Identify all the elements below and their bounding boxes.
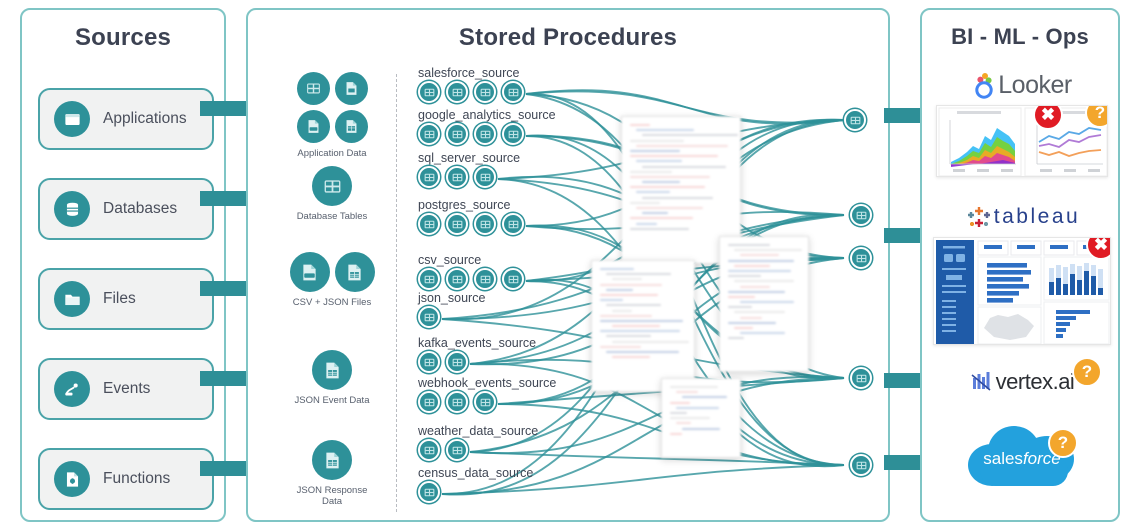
arrow-events [200, 371, 248, 386]
lineage-output-node[interactable] [850, 204, 872, 226]
lineage-output-node[interactable] [850, 367, 872, 389]
vertex-ai-mark-icon [970, 369, 996, 395]
bi-target-looker[interactable]: Looker [922, 68, 1122, 177]
lineage-node[interactable] [418, 123, 440, 145]
lineage-output-node[interactable] [844, 109, 866, 131]
lineage-output-node[interactable] [850, 454, 872, 476]
lineage-node[interactable] [418, 481, 440, 503]
bi-target-vertex-ai[interactable]: vertex.ai ? [922, 365, 1122, 399]
status-badge-warning: ? [1072, 357, 1102, 387]
source-item-applications[interactable]: Applications [38, 88, 214, 150]
lineage-node[interactable] [446, 351, 468, 373]
lineage-node[interactable] [446, 391, 468, 413]
lineage-group: google_analytics_source [418, 108, 556, 145]
lineage-node[interactable] [502, 213, 524, 235]
lineage-node[interactable] [418, 391, 440, 413]
looker-logo: Looker [922, 68, 1122, 102]
lineage-group: csv_source [418, 253, 524, 290]
looker-dashboard-preview[interactable]: ✖ ? [936, 105, 1108, 177]
lineage-group: weather_data_source [418, 424, 538, 461]
lineage-node[interactable] [474, 81, 496, 103]
lineage-group-name: kafka_events_source [418, 336, 536, 350]
lineage-group-name: sql_server_source [418, 151, 520, 165]
sources-panel: Sources Applications Databases Files Eve… [20, 8, 226, 522]
tableau-logo: tableau [922, 200, 1122, 234]
bi-panel-title: BI - ML - Ops [922, 24, 1118, 50]
arrow-files [200, 281, 248, 296]
lineage-node[interactable] [502, 268, 524, 290]
sources-panel-title: Sources [22, 24, 224, 52]
sql-code-card [591, 260, 695, 392]
lineage-node[interactable] [446, 123, 468, 145]
lineage-node[interactable] [418, 439, 440, 461]
vertex-wordmark: vertex.ai [996, 369, 1075, 395]
application-window-icon [54, 101, 90, 137]
lineage-group: kafka_events_source [418, 336, 536, 373]
lineage-node[interactable] [418, 81, 440, 103]
bi-target-salesforce[interactable]: salesforce ? [922, 422, 1122, 488]
lineage-node[interactable] [418, 268, 440, 290]
lineage-group: census_data_source [418, 466, 533, 503]
lineage-node[interactable] [502, 81, 524, 103]
lineage-node[interactable] [418, 351, 440, 373]
lineage-group: sql_server_source [418, 151, 520, 188]
lineage-group-name: google_analytics_source [418, 108, 556, 122]
lineage-group-name: postgres_source [418, 198, 524, 212]
folder-icon [54, 281, 90, 317]
lineage-group: salesforce_source [418, 66, 524, 103]
lineage-node[interactable] [446, 439, 468, 461]
lineage-node[interactable] [446, 213, 468, 235]
vertex-ai-logo: vertex.ai ? [922, 365, 1122, 399]
arrow-functions [200, 461, 248, 476]
lineage-group-name: webhook_events_source [418, 376, 556, 390]
lineage-group-name: json_source [418, 291, 485, 305]
lineage-node[interactable] [418, 306, 440, 328]
lineage-group-name: census_data_source [418, 466, 533, 480]
lineage-group: postgres_source [418, 198, 524, 235]
lineage-group-name: weather_data_source [418, 424, 538, 438]
lineage-output-node[interactable] [850, 247, 872, 269]
lineage-group: json_source [418, 291, 485, 328]
source-item-functions[interactable]: Functions [38, 448, 214, 510]
source-label: Databases [103, 200, 177, 218]
source-label: Files [103, 290, 136, 308]
arrow-databases [200, 191, 248, 206]
salesforce-logo: salesforce ? [962, 422, 1082, 488]
lineage-node[interactable] [474, 391, 496, 413]
arrow-applications [200, 101, 248, 116]
lineage-node[interactable] [446, 81, 468, 103]
lineage-group-name: csv_source [418, 253, 524, 267]
tableau-dashboard-preview[interactable]: ✖ [933, 237, 1111, 345]
looker-wordmark: Looker [998, 71, 1071, 100]
source-item-files[interactable]: Files [38, 268, 214, 330]
lineage-node[interactable] [418, 213, 440, 235]
source-label: Events [103, 380, 150, 398]
sql-code-card [719, 236, 809, 372]
looker-mark-icon [972, 71, 998, 99]
lineage-node[interactable] [474, 213, 496, 235]
source-item-databases[interactable]: Databases [38, 178, 214, 240]
tableau-mark-icon [964, 202, 994, 232]
lineage-graph: salesforce_sourcegoogle_analytics_source… [246, 8, 890, 522]
source-item-events[interactable]: Events [38, 358, 214, 420]
sql-code-card [661, 378, 741, 458]
lineage-group-name: salesforce_source [418, 66, 524, 80]
bi-target-tableau[interactable]: tableau [922, 200, 1122, 345]
events-icon [54, 371, 90, 407]
tableau-wordmark: tableau [994, 205, 1080, 229]
lineage-group: webhook_events_source [418, 376, 556, 413]
lineage-node[interactable] [474, 268, 496, 290]
status-badge-warning: ? [1048, 428, 1078, 458]
lineage-node[interactable] [502, 123, 524, 145]
database-icon [54, 191, 90, 227]
bi-ml-ops-panel: BI - ML - Ops Looker [920, 8, 1120, 522]
lineage-node[interactable] [474, 123, 496, 145]
lineage-node[interactable] [446, 166, 468, 188]
function-document-icon [54, 461, 90, 497]
diagram-canvas: Sources Applications Databases Files Eve… [0, 0, 1140, 530]
lineage-node[interactable] [418, 166, 440, 188]
lineage-node[interactable] [446, 268, 468, 290]
source-label: Applications [103, 110, 187, 128]
source-label: Functions [103, 470, 170, 488]
lineage-node[interactable] [474, 166, 496, 188]
